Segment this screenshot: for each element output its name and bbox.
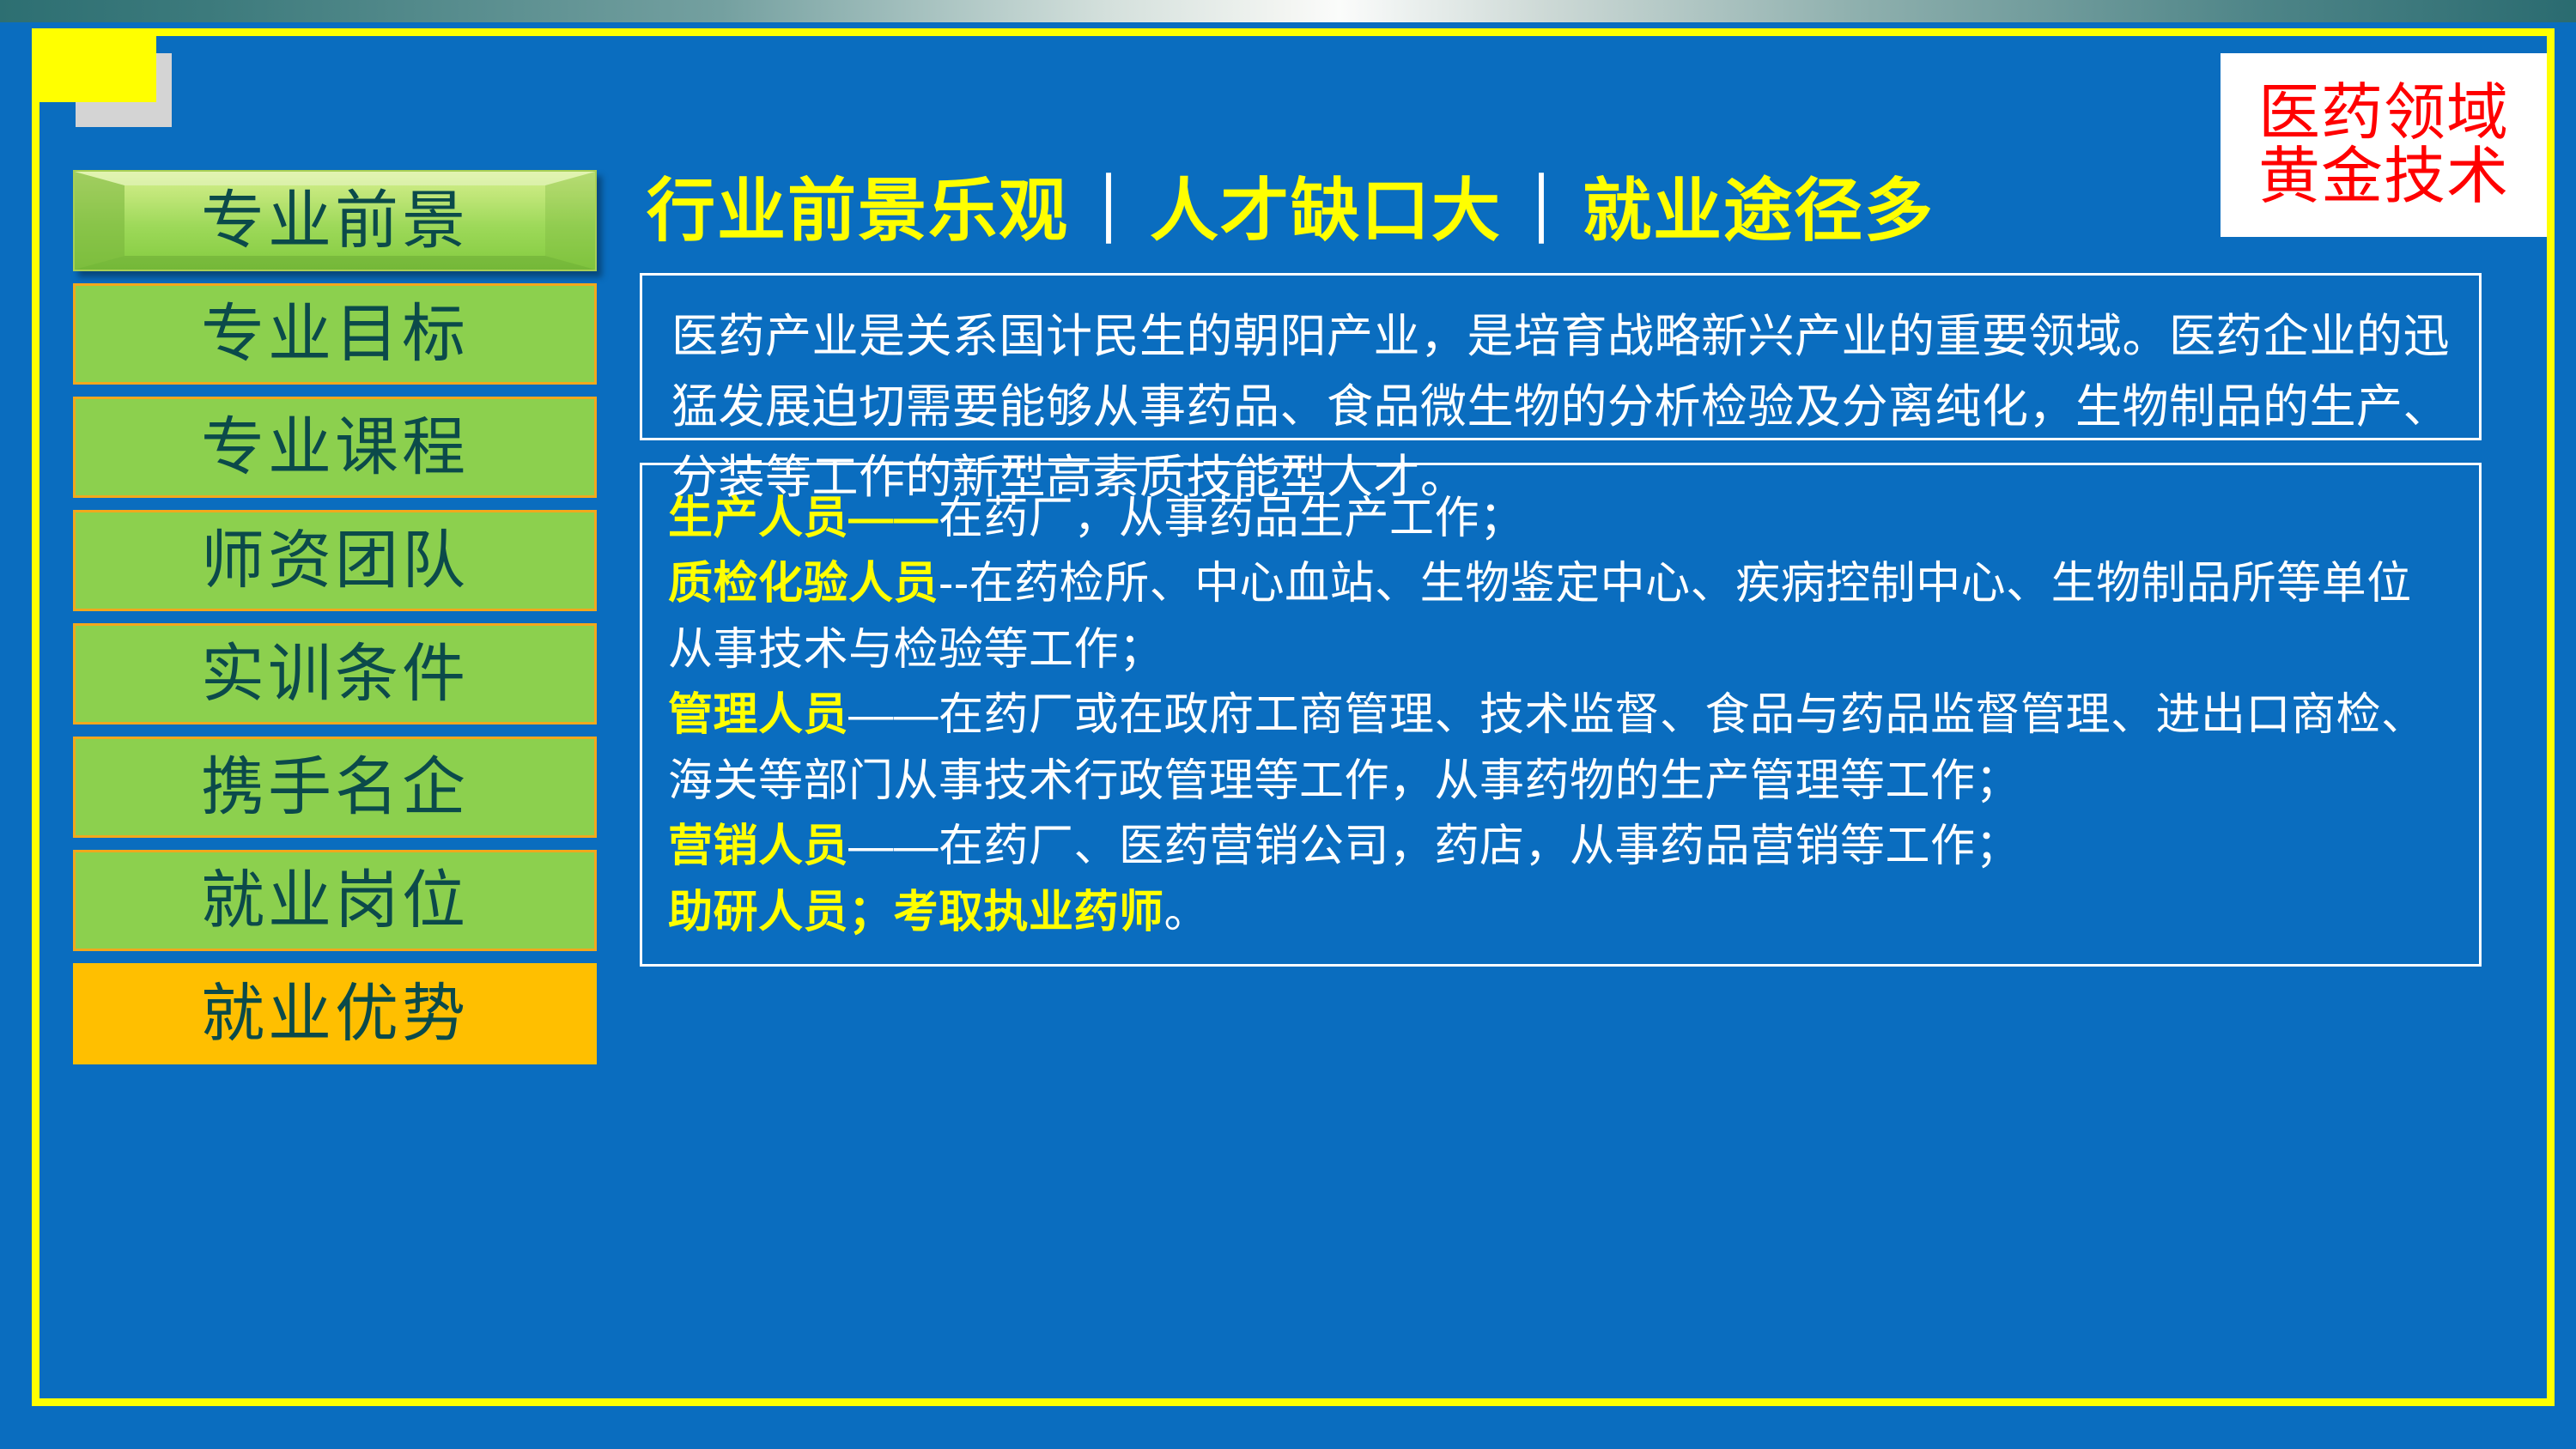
headline-part-2: 人才缺口大	[1150, 173, 1502, 249]
role-line: 助研人员；考取执业药师。	[668, 880, 2453, 945]
headline-part-1: 行业前景乐观	[647, 173, 1069, 249]
sidebar-nav: 专业前景 专业目标 专业课程 师资团队 实训条件 携手名企 就业岗位 就业优势	[73, 170, 597, 1076]
role-body: 在药厂、医药营销公司，药店，从事药品营销等工作；	[939, 822, 2020, 871]
sidebar-item-label: 就业岗位	[201, 869, 469, 932]
role-label: 生产人员	[668, 494, 848, 543]
role-body: 。	[1164, 888, 1210, 937]
sidebar-item-jiuye-youshi[interactable]: 就业优势	[73, 963, 597, 1064]
role-connector: ——	[848, 494, 939, 543]
sidebar-item-label: 携手名企	[201, 755, 469, 819]
roles-panel: 生产人员——在药厂，从事药品生产工作； 质检化验人员--在药检所、中心血站、生物…	[640, 463, 2482, 967]
sidebar-item-zhuanye-mubiao[interactable]: 专业目标	[73, 283, 597, 385]
role-label: 质检化验人员	[668, 559, 939, 609]
headline-separator-2: ｜	[1502, 173, 1583, 249]
sidebar-item-label: 专业课程	[201, 415, 469, 479]
role-label: 助研人员；考取执业药师	[668, 888, 1164, 937]
sidebar-item-shixun-tiaojian[interactable]: 实训条件	[73, 623, 597, 724]
main-content: 行业前景乐观｜人才缺口大｜就业途径多 医药产业是关系国计民生的朝阳产业，是培育战…	[640, 172, 2482, 967]
intro-panel: 医药产业是关系国计民生的朝阳产业，是培育战略新兴产业的重要领域。医药企业的迅猛发…	[640, 273, 2482, 440]
sidebar-item-label: 实训条件	[201, 642, 469, 706]
sidebar-item-label: 就业优势	[201, 982, 469, 1046]
top-gradient-band	[0, 0, 2576, 22]
role-label: 管理人员	[668, 690, 848, 740]
sidebar-item-shizi-tuandui[interactable]: 师资团队	[73, 510, 597, 611]
role-line: 生产人员——在药厂，从事药品生产工作；	[668, 486, 2453, 551]
sidebar-item-zhuanye-qianjing[interactable]: 专业前景	[73, 170, 597, 271]
sidebar-item-label: 专业目标	[201, 302, 469, 366]
role-connector: ——	[848, 822, 939, 871]
sidebar-item-jiuye-gangwei[interactable]: 就业岗位	[73, 850, 597, 951]
badge-line-1: 医药领域	[2258, 82, 2509, 144]
sidebar-item-xieshou-mingqi[interactable]: 携手名企	[73, 737, 597, 838]
headline-part-3: 就业途径多	[1583, 173, 1935, 249]
page-title: 行业前景乐观｜人才缺口大｜就业途径多	[640, 172, 2482, 251]
role-connector: ——	[848, 690, 939, 740]
sidebar-item-label: 师资团队	[201, 529, 469, 592]
sidebar-item-zhuanye-kecheng[interactable]: 专业课程	[73, 397, 597, 498]
role-connector: --	[939, 559, 969, 609]
role-line: 质检化验人员--在药检所、中心血站、生物鉴定中心、疾病控制中心、生物制品所等单位…	[668, 551, 2453, 682]
role-label: 营销人员	[668, 822, 848, 871]
slide-root: 医药领域 黄金技术 专业前景 专业目标 专业课程 师资团队 实训条件 携手名企 …	[0, 0, 2576, 1449]
sidebar-item-label: 专业前景	[201, 189, 469, 252]
decorative-yellow-square	[32, 28, 156, 102]
role-line: 管理人员——在药厂或在政府工商管理、技术监督、食品与药品监督管理、进出口商检、海…	[668, 682, 2453, 814]
headline-separator-1: ｜	[1069, 173, 1150, 249]
role-line: 营销人员——在药厂、医药营销公司，药店，从事药品营销等工作；	[668, 814, 2453, 879]
role-body: 在药厂，从事药品生产工作；	[939, 494, 1525, 543]
